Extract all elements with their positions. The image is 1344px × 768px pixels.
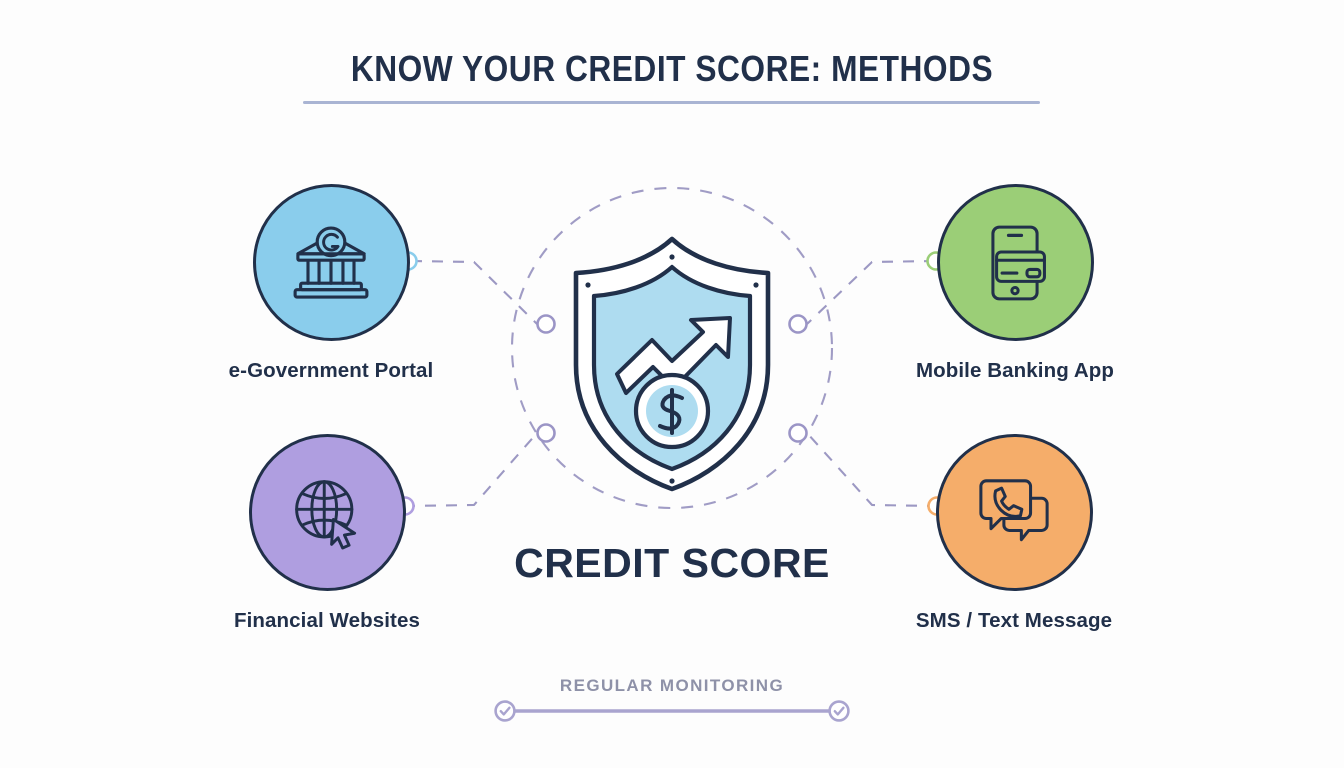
method-node-sms[interactable]: SMS / Text Message [884, 434, 1144, 633]
page-title: KNOW YOUR CREDIT SCORE: METHODS [81, 48, 1264, 90]
center-shield [556, 233, 788, 495]
method-label-finweb: Financial Websites [197, 609, 457, 633]
orbit-node-top-left [538, 316, 555, 333]
footer-check-circle-right [830, 702, 849, 721]
method-icon-circle-mobile[interactable] [937, 184, 1094, 341]
method-label-mobile: Mobile Banking App [885, 359, 1145, 383]
center-title: CREDIT SCORE [0, 540, 1344, 587]
method-icon-circle-egov[interactable] [253, 184, 410, 341]
method-label-egov: e-Government Portal [201, 359, 461, 383]
orbit-node-bottom-right [790, 425, 807, 442]
shield-growth-dollar-icon [556, 233, 788, 495]
footer-check-circle-left [496, 702, 515, 721]
orbit-node-bottom-left [538, 425, 555, 442]
government-building-icon [285, 217, 377, 309]
orbit-node-top-right [790, 316, 807, 333]
smartphone-credit-card-icon [969, 217, 1061, 309]
method-node-finweb[interactable]: Financial Websites [197, 434, 457, 633]
infographic-canvas: KNOW YOUR CREDIT SCORE: METHODS [0, 0, 1344, 768]
method-node-mobile[interactable]: Mobile Banking App [885, 184, 1145, 383]
method-node-egov[interactable]: e-Government Portal [201, 184, 461, 383]
footer-progress-bar [494, 700, 850, 722]
footer-caption: REGULAR MONITORING [0, 676, 1344, 696]
method-label-sms: SMS / Text Message [884, 609, 1144, 633]
title-divider [303, 101, 1040, 104]
